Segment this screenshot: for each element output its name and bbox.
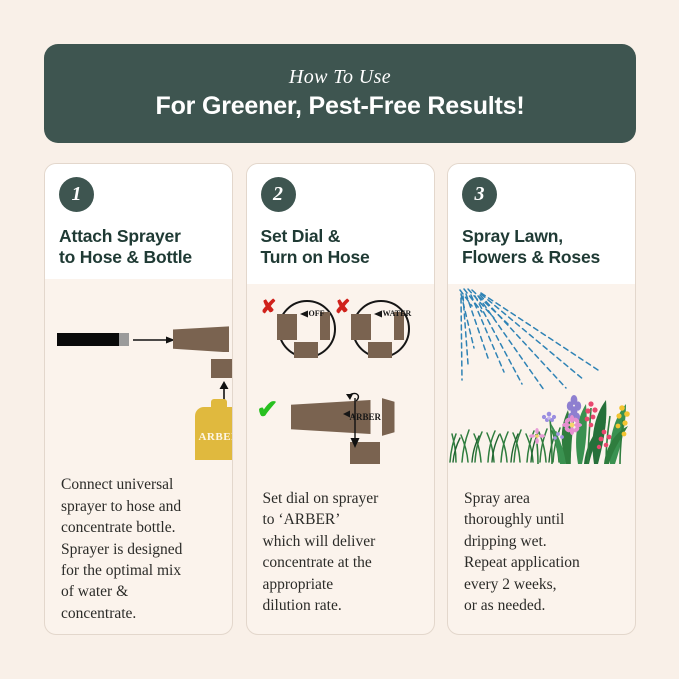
bottle-label-text: ARBER (195, 431, 232, 443)
step-card-2: 2 Set Dial & Turn on Hose ✘ OFF ✘ (246, 163, 435, 635)
spray-lines-icon (460, 289, 598, 390)
step-3-header: 3 Spray Lawn, Flowers & Roses (448, 164, 635, 284)
step-card-3: 3 Spray Lawn, Flowers & Roses (447, 163, 636, 635)
dial-pad-bottom (294, 342, 318, 358)
page-title: For Greener, Pest-Free Results! (156, 92, 525, 121)
header-eyebrow: How To Use (289, 66, 391, 89)
header-panel: How To Use For Greener, Pest-Free Result… (44, 44, 636, 143)
sprayer-connector-icon (211, 359, 232, 378)
step-3-title: Spray Lawn, Flowers & Roses (462, 226, 621, 269)
step-2-illustration: ✘ OFF ✘ (247, 284, 434, 474)
dial-label-water: WATER (383, 309, 412, 318)
spray-and-garden-art (448, 284, 635, 474)
step-1-title: Attach Sprayer to Hose & Bottle (59, 226, 218, 269)
dial-pad-left (277, 314, 297, 340)
step-3-illustration (448, 284, 635, 474)
sprayer-body-icon (173, 326, 229, 352)
how-to-use-infographic: How To Use For Greener, Pest-Free Result… (0, 0, 679, 679)
steps-container: 1 Attach Sprayer to Hose & Bottle (44, 163, 636, 633)
x-mark-icon-water: ✘ (335, 296, 351, 319)
arrow-right-icon (133, 335, 175, 345)
step-2-header: 2 Set Dial & Turn on Hose (247, 164, 434, 284)
check-mark-icon: ✔ (257, 394, 279, 425)
step-1-header: 1 Attach Sprayer to Hose & Bottle (45, 164, 232, 279)
step-3-caption: Spray area thoroughly until dripping wet… (448, 474, 635, 626)
dial-label-arber: ARBER (350, 412, 382, 422)
step-card-1: 1 Attach Sprayer to Hose & Bottle (44, 163, 233, 635)
step-2-title: Set Dial & Turn on Hose (261, 226, 420, 269)
dial-off-icon (278, 300, 336, 358)
step-number-badge-1: 1 (59, 177, 94, 212)
step-number-badge-3: 3 (462, 177, 497, 212)
hose-icon (57, 333, 119, 346)
dial-pad-bottom (368, 342, 392, 358)
step-1-illustration: ARBER (45, 279, 232, 460)
dial-pad-left (351, 314, 371, 340)
x-mark-icon-off: ✘ (261, 296, 277, 319)
step-1-caption: Connect universal sprayer to hose and co… (45, 460, 232, 634)
step-2-caption: Set dial on sprayer to ‘ARBER’ which wil… (247, 474, 434, 626)
hose-tip-icon (119, 333, 129, 346)
dial-label-off: OFF (309, 309, 325, 318)
sprayer-neck-icon-2 (382, 398, 395, 436)
step-number-badge-2: 2 (261, 177, 296, 212)
